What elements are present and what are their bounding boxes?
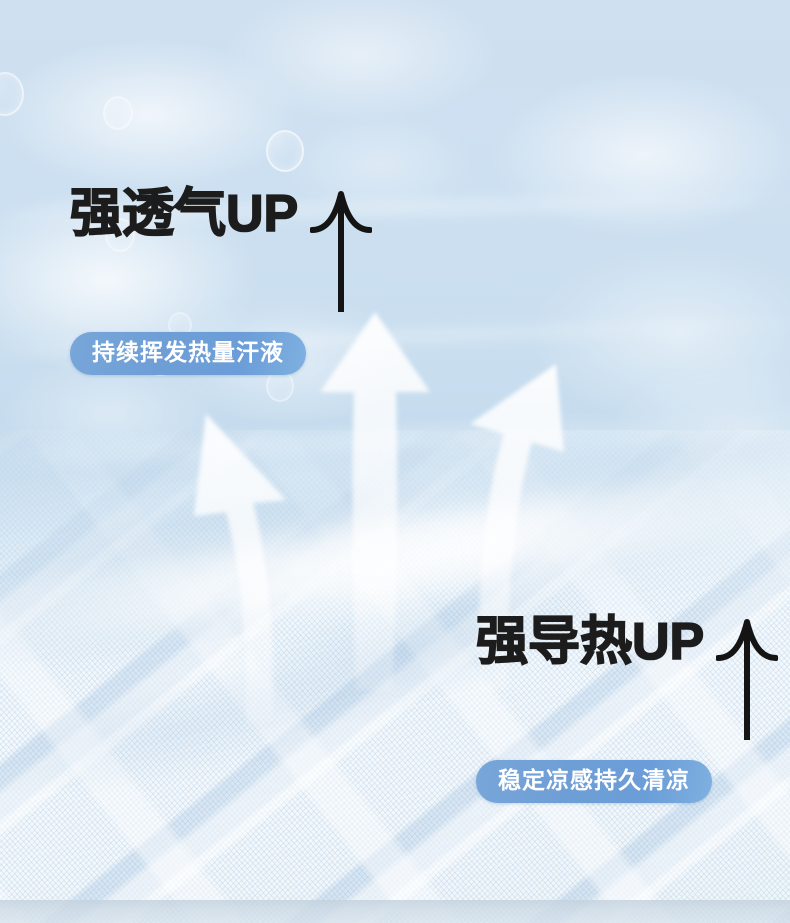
headline-conductive: 强导热UP xyxy=(476,616,778,744)
bottom-edge-strip xyxy=(0,900,790,923)
headline-conductive-text: 强导热UP xyxy=(476,616,704,668)
bubble-icon xyxy=(0,72,24,116)
up-arrow-icon xyxy=(716,616,778,744)
headline-breathable-text: 强透气UP xyxy=(70,188,298,240)
feature-block-conductive: 强导热UP 稳定凉感持久清凉 xyxy=(476,616,778,803)
cloud-wisp xyxy=(170,0,550,150)
up-arrow-icon xyxy=(310,188,372,316)
badge-breathable: 持续挥发热量汗液 xyxy=(70,332,306,375)
bubble-icon xyxy=(266,130,304,172)
cloud-wisp xyxy=(470,210,790,460)
badge-conductive: 稳定凉感持久清凉 xyxy=(476,760,712,803)
feature-block-breathable: 强透气UP 持续挥发热量汗液 xyxy=(70,188,372,375)
cloud-wisp xyxy=(430,40,790,270)
bubble-icon xyxy=(103,96,133,130)
promo-poster: 强透气UP 持续挥发热量汗液 强导热UP 稳定凉感持久清凉 xyxy=(0,0,790,923)
headline-breathable: 强透气UP xyxy=(70,188,372,316)
